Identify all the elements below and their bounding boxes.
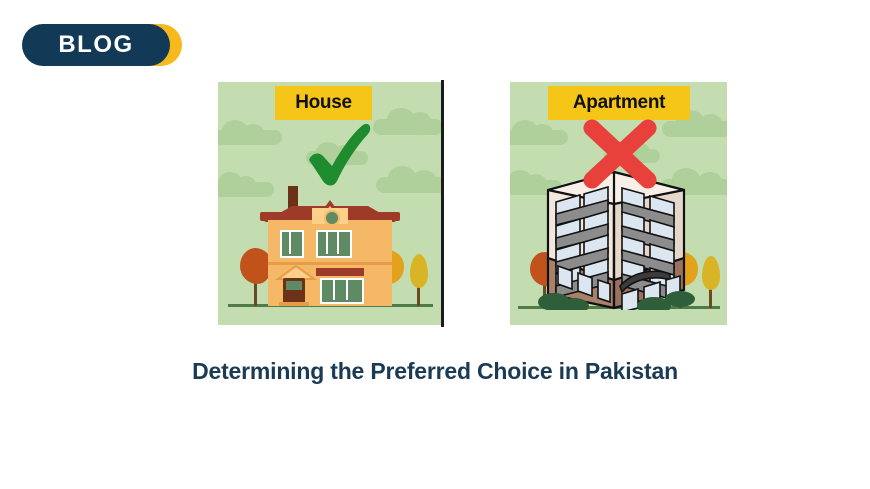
page-title: Determining the Preferred Choice in Paki… xyxy=(0,358,870,385)
panel-house-label-plate: House xyxy=(275,86,372,120)
cloud-icon xyxy=(510,120,568,144)
panel-apartment-label: Apartment xyxy=(573,92,665,114)
panel-house[interactable]: House xyxy=(218,82,443,325)
cross-icon xyxy=(578,116,662,192)
panel-house-label: House xyxy=(295,92,352,114)
blog-badge[interactable]: BLOG xyxy=(22,24,182,66)
house-illustration xyxy=(254,186,406,306)
panel-apartment[interactable]: Apartment xyxy=(510,82,727,325)
tree-gold-icon xyxy=(408,254,430,306)
cloud-icon xyxy=(218,120,282,144)
panel-apartment-label-plate: Apartment xyxy=(548,86,690,120)
blog-badge-label: BLOG xyxy=(58,31,133,59)
cloud-icon xyxy=(373,108,443,134)
blog-banner-canvas: BLOG Ho xyxy=(0,0,870,489)
blog-badge-pill: BLOG xyxy=(22,24,170,66)
check-icon xyxy=(301,120,373,188)
panel-divider xyxy=(441,80,444,327)
